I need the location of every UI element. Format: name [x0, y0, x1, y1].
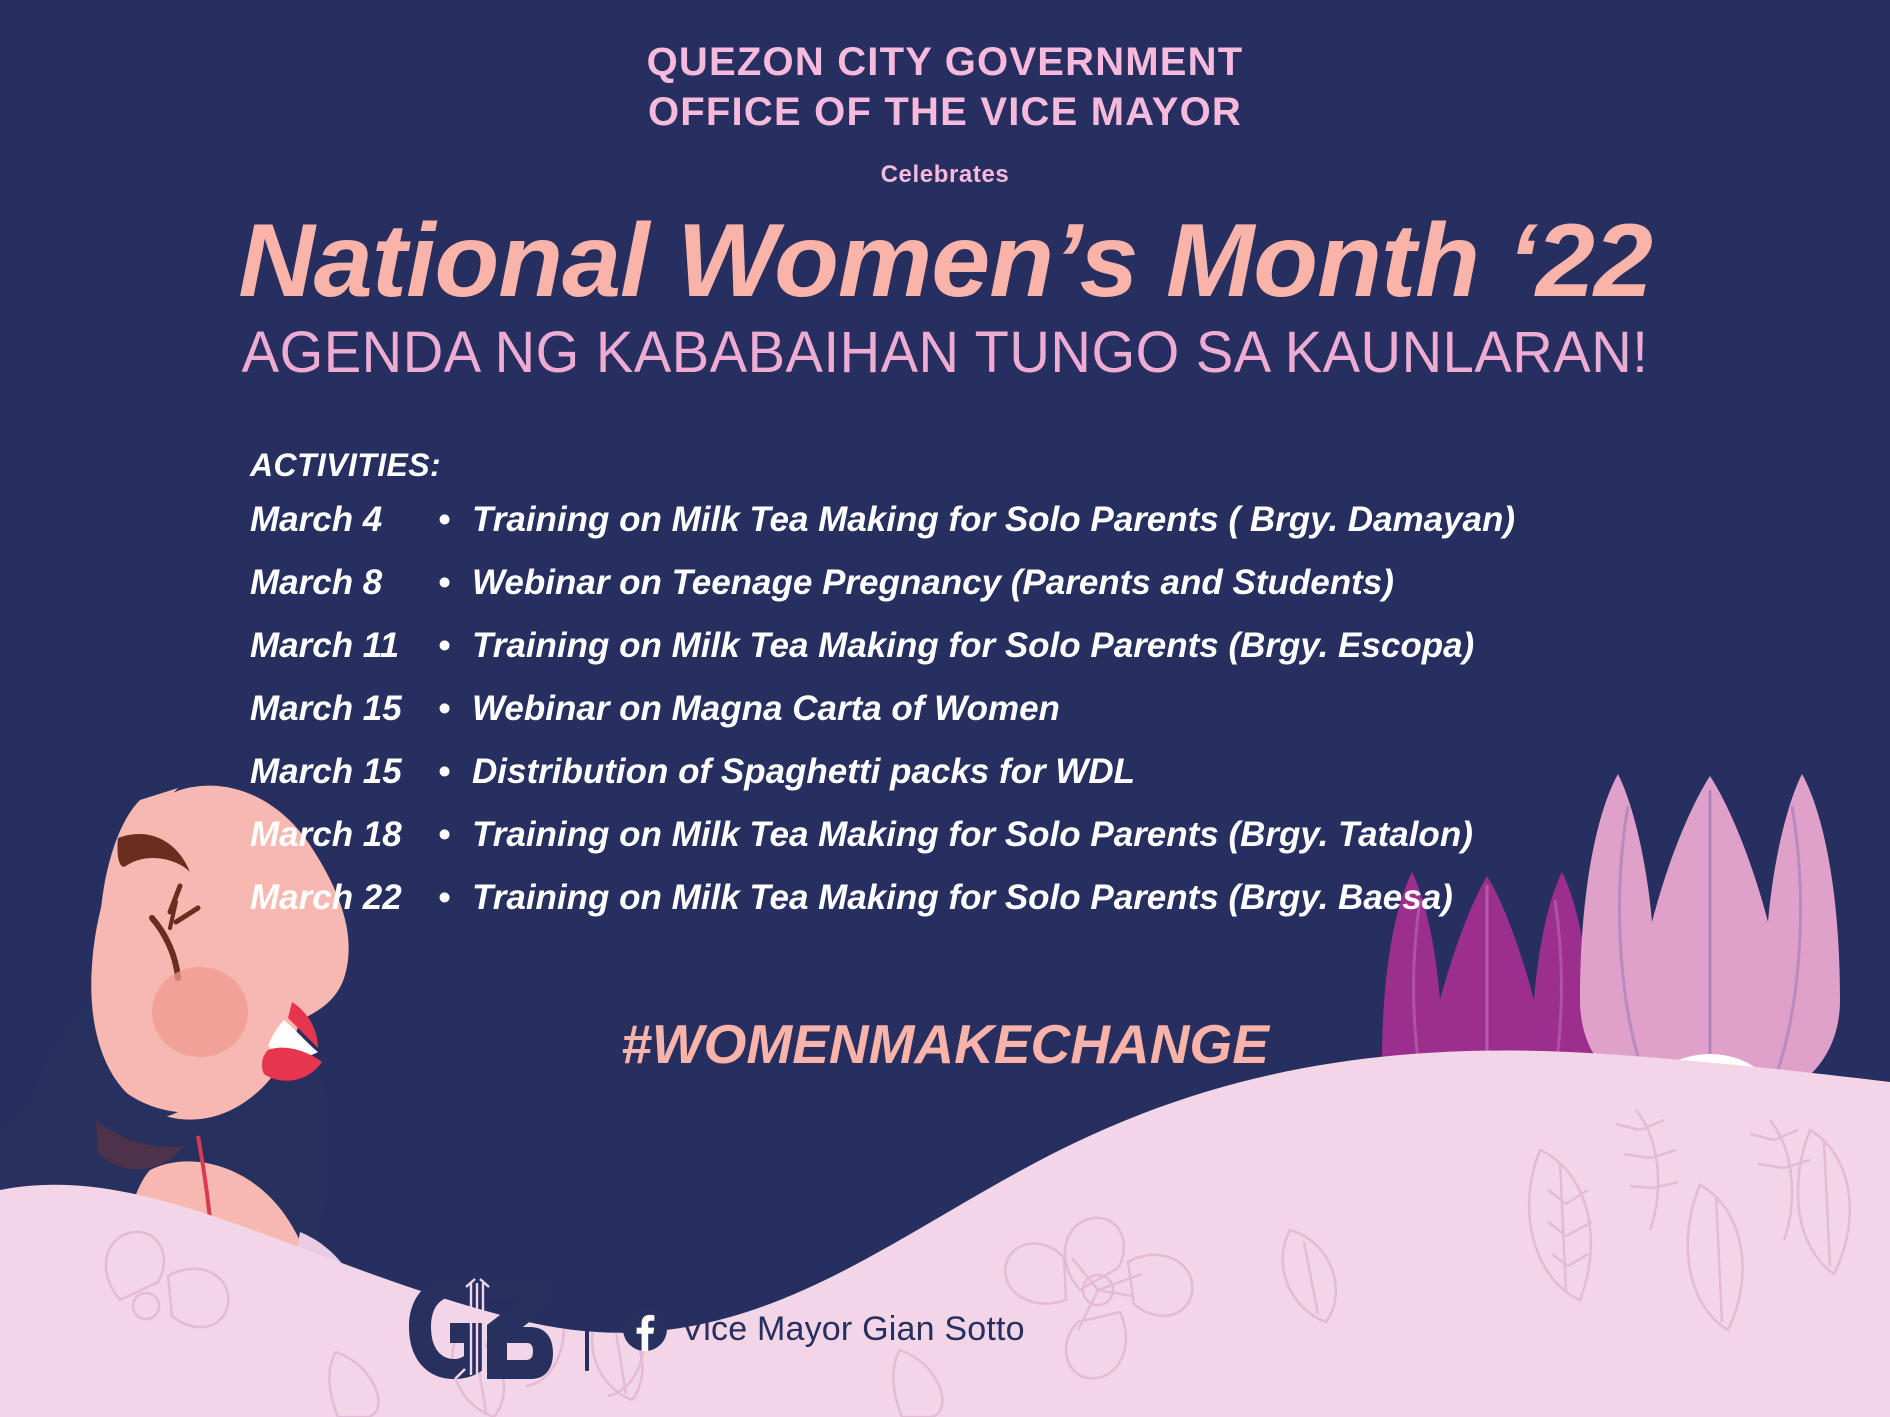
activity-text: Webinar on Magna Carta of Women	[472, 691, 1700, 726]
activity-text: Training on Milk Tea Making for Solo Par…	[472, 880, 1700, 915]
list-item: March 4 • Training on Milk Tea Making fo…	[250, 502, 1700, 537]
facebook-page-name: Vice Mayor Gian Sotto	[681, 1310, 1025, 1349]
activity-date: March 8	[250, 565, 438, 600]
activity-text: Webinar on Teenage Pregnancy (Parents an…	[472, 565, 1700, 600]
org-line-2: OFFICE OF THE VICE MAYOR	[0, 88, 1890, 138]
activity-text: Distribution of Spaghetti packs for WDL	[472, 754, 1700, 789]
activity-text: Training on Milk Tea Making for Solo Par…	[472, 502, 1700, 537]
list-item: March 11 • Training on Milk Tea Making f…	[250, 628, 1700, 663]
bullet-icon: •	[438, 817, 472, 852]
activity-text: Training on Milk Tea Making for Solo Par…	[472, 628, 1700, 663]
necklace-pendant	[191, 1244, 235, 1326]
activity-date: March 15	[250, 691, 438, 726]
campaign-hashtag: #WOMENMAKECHANGE	[0, 1012, 1890, 1076]
activity-date: March 18	[250, 817, 438, 852]
bullet-icon: •	[438, 880, 472, 915]
list-item: March 22 • Training on Milk Tea Making f…	[250, 880, 1700, 915]
gs-monogram-logo	[405, 1277, 555, 1381]
footer-divider	[585, 1287, 589, 1371]
list-item: March 18 • Training on Milk Tea Making f…	[250, 817, 1700, 852]
bullet-icon: •	[438, 754, 472, 789]
bullet-icon: •	[438, 691, 472, 726]
list-item: March 15 • Webinar on Magna Carta of Wom…	[250, 691, 1700, 726]
activity-date: March 11	[250, 628, 438, 663]
activity-date: March 22	[250, 880, 438, 915]
bullet-icon: •	[438, 565, 472, 600]
page-subtitle: AGENDA NG KABABAIHAN TUNGO SA KAUNLARAN!	[0, 318, 1890, 386]
footer-branding: Vice Mayor Gian Sotto	[405, 1277, 1025, 1381]
facebook-handle[interactable]: Vice Mayor Gian Sotto	[623, 1307, 1025, 1351]
activity-date: March 4	[250, 502, 438, 537]
list-item: March 15 • Distribution of Spaghetti pac…	[250, 754, 1700, 789]
org-line-1: QUEZON CITY GOVERNMENT	[0, 38, 1890, 88]
activities-heading: ACTIVITIES:	[250, 447, 1700, 484]
facebook-icon[interactable]	[623, 1307, 667, 1351]
bullet-icon: •	[438, 502, 472, 537]
celebrates-label: Celebrates	[0, 161, 1890, 189]
activity-date: March 15	[250, 754, 438, 789]
page-title: National Women’s Month ‘22	[0, 207, 1890, 316]
list-item: March 8 • Webinar on Teenage Pregnancy (…	[250, 565, 1700, 600]
activities-block: ACTIVITIES: March 4 • Training on Milk T…	[250, 447, 1700, 943]
activity-text: Training on Milk Tea Making for Solo Par…	[472, 817, 1700, 852]
poster-canvas: QUEZON CITY GOVERNMENT OFFICE OF THE VIC…	[0, 0, 1890, 1417]
bullet-icon: •	[438, 628, 472, 663]
header-block: QUEZON CITY GOVERNMENT OFFICE OF THE VIC…	[0, 38, 1890, 384]
